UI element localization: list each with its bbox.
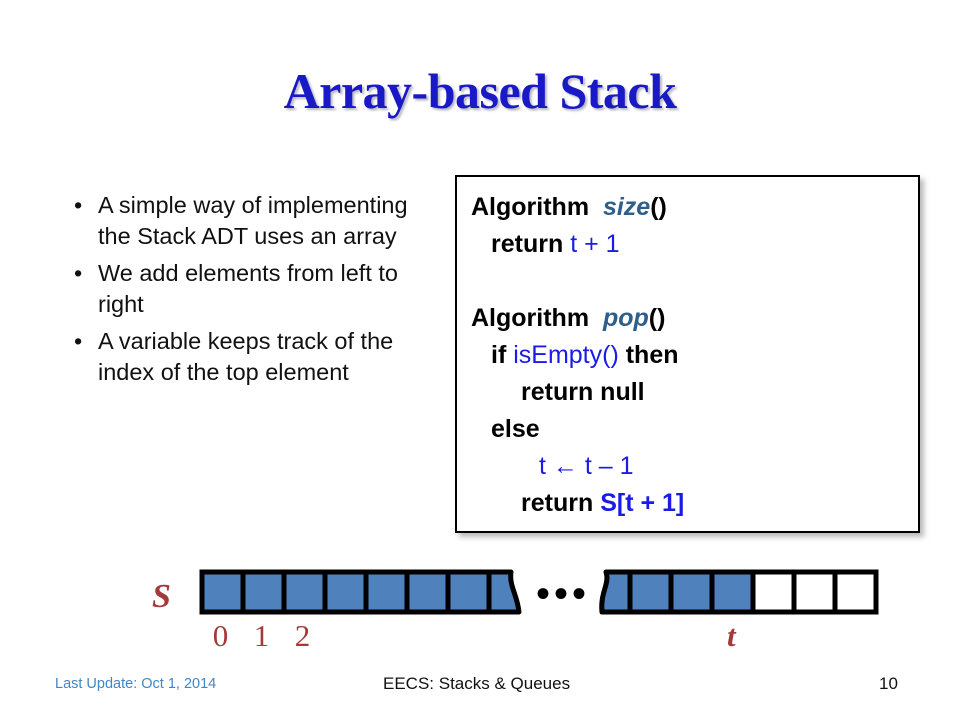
array-segment-right xyxy=(602,572,876,612)
array-cell-filled xyxy=(407,572,448,612)
array-label-s: S xyxy=(152,578,171,616)
pseudocode-body: Algorithm size()return t + 1 Algorithm p… xyxy=(471,189,912,522)
code-token: return null xyxy=(521,378,645,406)
bullet-text: We add elements from left to right xyxy=(98,260,398,317)
bullet-text: A simple way of implementing the Stack A… xyxy=(98,192,408,249)
code-line-pop-dec: t ← t – 1 xyxy=(539,448,912,485)
code-line-pop-else: else xyxy=(491,411,912,448)
code-token: () xyxy=(650,193,667,221)
array-index-1: 1 xyxy=(241,618,282,654)
code-token: t + 1 xyxy=(570,230,619,258)
footer-last-update: Last Update: Oct 1, 2014 xyxy=(55,676,216,692)
code-line-size-return: return t + 1 xyxy=(491,226,912,263)
array-cell-filled xyxy=(243,572,284,612)
code-token: Algorithm xyxy=(471,193,596,221)
array-cell-empty xyxy=(835,572,876,612)
array-cell-filled xyxy=(202,572,243,612)
array-cell-filled xyxy=(448,572,489,612)
code-token: t ← t – 1 xyxy=(539,452,633,480)
array-cell-filled xyxy=(671,572,712,612)
footer-page-number: 10 xyxy=(879,674,898,694)
bullet-item: •We add elements from left to right xyxy=(62,258,432,319)
code-token: () xyxy=(649,304,666,332)
array-ellipsis: ••• xyxy=(536,570,590,617)
array-cell-filled xyxy=(284,572,325,612)
code-token xyxy=(471,267,478,295)
code-token: return xyxy=(521,489,600,517)
code-token: S[t + 1] xyxy=(600,489,684,517)
code-token: isEmpty() xyxy=(513,341,619,369)
bullet-item: •A simple way of implementing the Stack … xyxy=(62,190,432,251)
code-line-pop-if: if isEmpty() then xyxy=(491,337,912,374)
array-index-2: 2 xyxy=(282,618,323,654)
code-token: else xyxy=(491,415,540,443)
algorithm-pseudocode-box: Algorithm size()return t + 1 Algorithm p… xyxy=(455,175,920,533)
code-token: Algorithm xyxy=(471,304,596,332)
array-index-labels: 012 xyxy=(200,618,440,654)
array-index-0: 0 xyxy=(200,618,241,654)
bullet-item: •A variable keeps track of the index of … xyxy=(62,326,432,387)
page-title: Array-based Stack xyxy=(0,62,960,120)
array-diagram-svg xyxy=(0,560,960,660)
code-token: return xyxy=(491,230,570,258)
code-line-spacer xyxy=(471,263,912,300)
bullet-list: •A simple way of implementing the Stack … xyxy=(62,190,432,394)
array-torn-edge-right xyxy=(489,572,519,612)
code-line-pop-return: return S[t + 1] xyxy=(521,485,912,522)
footer-course-title: EECS: Stacks & Queues xyxy=(383,674,570,694)
code-token: if xyxy=(491,341,513,369)
array-diagram xyxy=(0,560,960,660)
code-line-pop-header: Algorithm pop() xyxy=(471,300,912,337)
array-label-t: t xyxy=(727,618,736,654)
bullet-marker-icon: • xyxy=(74,326,82,357)
array-torn-edge-left xyxy=(602,572,630,612)
code-token: pop xyxy=(596,304,649,332)
array-cell-filled xyxy=(366,572,407,612)
code-token: then xyxy=(619,341,679,369)
array-segment-left xyxy=(202,572,519,612)
bullet-text: A variable keeps track of the index of t… xyxy=(98,328,393,385)
code-line-size-header: Algorithm size() xyxy=(471,189,912,226)
code-token: size xyxy=(596,193,650,221)
array-cell-filled xyxy=(712,572,753,612)
bullet-marker-icon: • xyxy=(74,190,82,221)
slide-footer: Last Update: Oct 1, 2014 EECS: Stacks & … xyxy=(0,672,960,708)
array-cell-empty xyxy=(794,572,835,612)
array-cell-filled xyxy=(325,572,366,612)
array-cell-filled xyxy=(630,572,671,612)
bullet-marker-icon: • xyxy=(74,258,82,289)
array-cell-empty xyxy=(753,572,794,612)
code-line-pop-null: return null xyxy=(521,374,912,411)
